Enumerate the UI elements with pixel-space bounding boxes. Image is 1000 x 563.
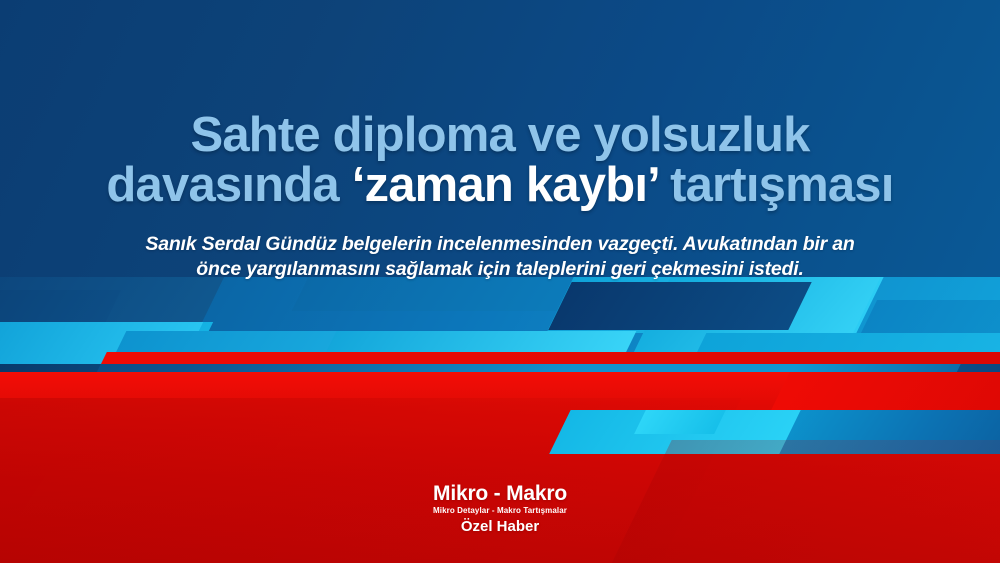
bg-band-bottom-highlight [634, 410, 726, 434]
headline-emphasis: ‘zaman kaybı’ [352, 158, 658, 212]
headline-line-2-prefix: davasında [106, 158, 351, 212]
brand-kicker: Özel Haber [0, 518, 1000, 535]
subheadline-line-1: Sanık Serdal Gündüz belgelerin incelenme… [38, 232, 962, 258]
subheadline: Sanık Serdal Gündüz belgelerin incelenme… [0, 232, 1000, 284]
brand-tagline: Mikro Detaylar - Makro Tartışmalar [0, 507, 1000, 516]
headline-line-2-suffix: tartışması [657, 158, 893, 212]
brand-logo: Mikro - Makro Mikro Detaylar - Makro Tar… [0, 483, 1000, 535]
headline-line-1: Sahte diploma ve yolsuzluk [26, 111, 974, 161]
headline-line-2: davasında ‘zaman kaybı’ tartışması [26, 161, 974, 211]
headline: Sahte diploma ve yolsuzluk davasında ‘za… [0, 111, 1000, 211]
bg-band-navy-right [548, 282, 811, 330]
bg-band-red-overlay [770, 372, 1000, 412]
brand-name: Mikro - Makro [0, 483, 1000, 505]
subheadline-line-2: önce yargılanmasını sağlamak için talepl… [38, 257, 962, 283]
news-graphic-card: Sahte diploma ve yolsuzluk davasında ‘za… [0, 0, 1000, 563]
